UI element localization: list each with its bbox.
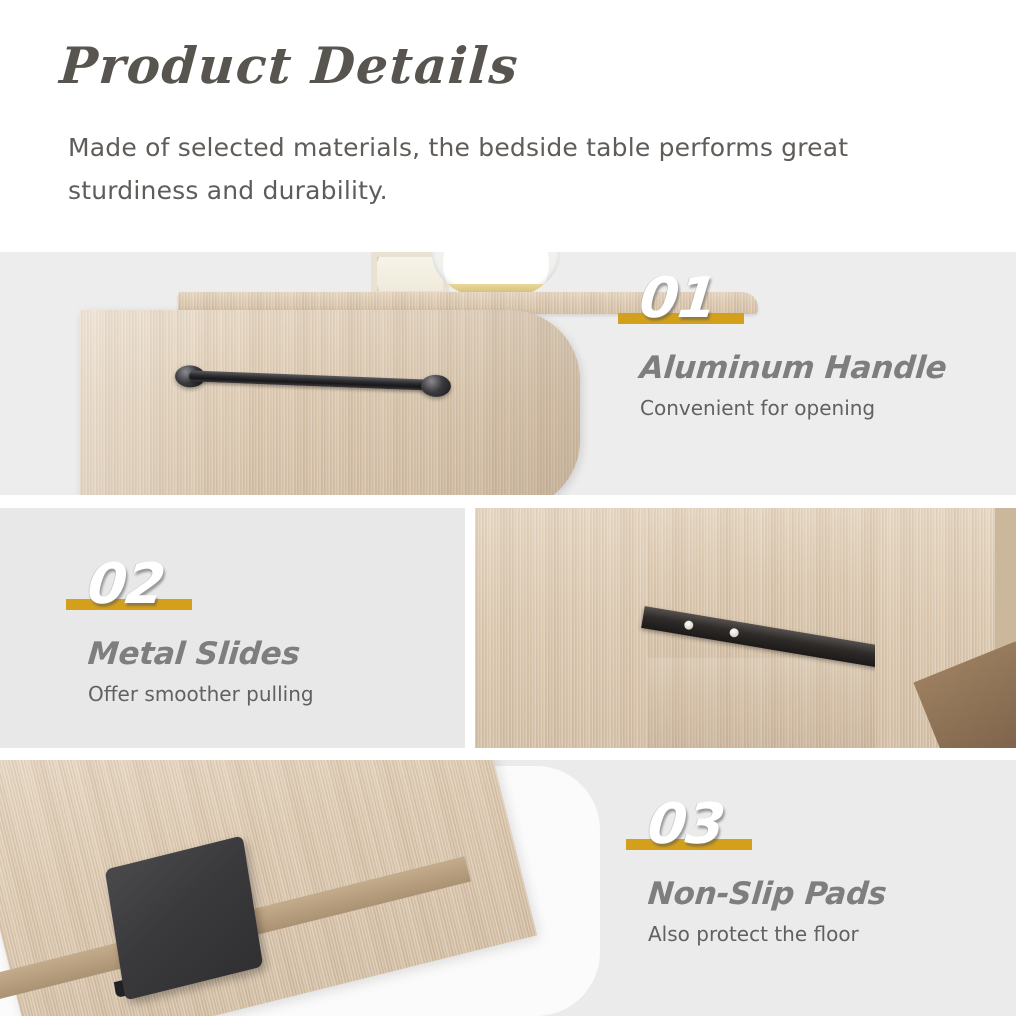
page-subtitle: Made of selected materials, the bedside … xyxy=(68,126,948,212)
feature-subtitle-1: Convenient for opening xyxy=(640,396,947,420)
feature-subtitle-3: Also protect the floor xyxy=(648,922,886,946)
feature-number-wrap-1: 01 xyxy=(640,270,716,328)
feature-subtitle-2: Offer smoother pulling xyxy=(88,682,314,706)
feature-title-3: Non-Slip Pads xyxy=(646,876,888,912)
feature-title-2: Metal Slides xyxy=(86,636,315,672)
slide-screw-1 xyxy=(684,620,694,630)
feature-number-3: 03 xyxy=(645,796,727,854)
feature-number-1: 01 xyxy=(637,270,719,328)
feature-panel-3: 03 Non-Slip Pads Also protect the floor xyxy=(0,760,1016,1016)
feature-panel-2: 02 Metal Slides Offer smoother pulling xyxy=(0,508,1016,748)
header-section: Product Details Made of selected materia… xyxy=(0,0,1016,248)
panel-2-divider xyxy=(465,508,475,748)
feature-text-1: 01 Aluminum Handle Convenient for openin… xyxy=(640,270,947,420)
feature-panel-1: 7 6 01 Aluminu xyxy=(0,252,1016,495)
product-details-infographic: Product Details Made of selected materia… xyxy=(0,0,1016,1016)
slide-screw-2 xyxy=(729,628,739,638)
feature-number-wrap-2: 02 xyxy=(88,556,164,614)
feature-title-1: Aluminum Handle xyxy=(638,350,948,386)
cabinet-left-panel xyxy=(475,508,595,748)
cabinet-left-edge xyxy=(595,508,647,748)
feature-text-3: 03 Non-Slip Pads Also protect the floor xyxy=(648,796,886,946)
feature-text-2: 02 Metal Slides Offer smoother pulling xyxy=(88,556,314,706)
feature-number-wrap-3: 03 xyxy=(648,796,724,854)
feature-number-2: 02 xyxy=(85,556,167,614)
drawer-interior-wood xyxy=(647,648,877,748)
product-photo-metal-slides xyxy=(475,508,1016,748)
drawer-shading xyxy=(80,310,580,495)
drawer-front xyxy=(80,310,580,495)
page-title: Product Details xyxy=(58,36,521,95)
